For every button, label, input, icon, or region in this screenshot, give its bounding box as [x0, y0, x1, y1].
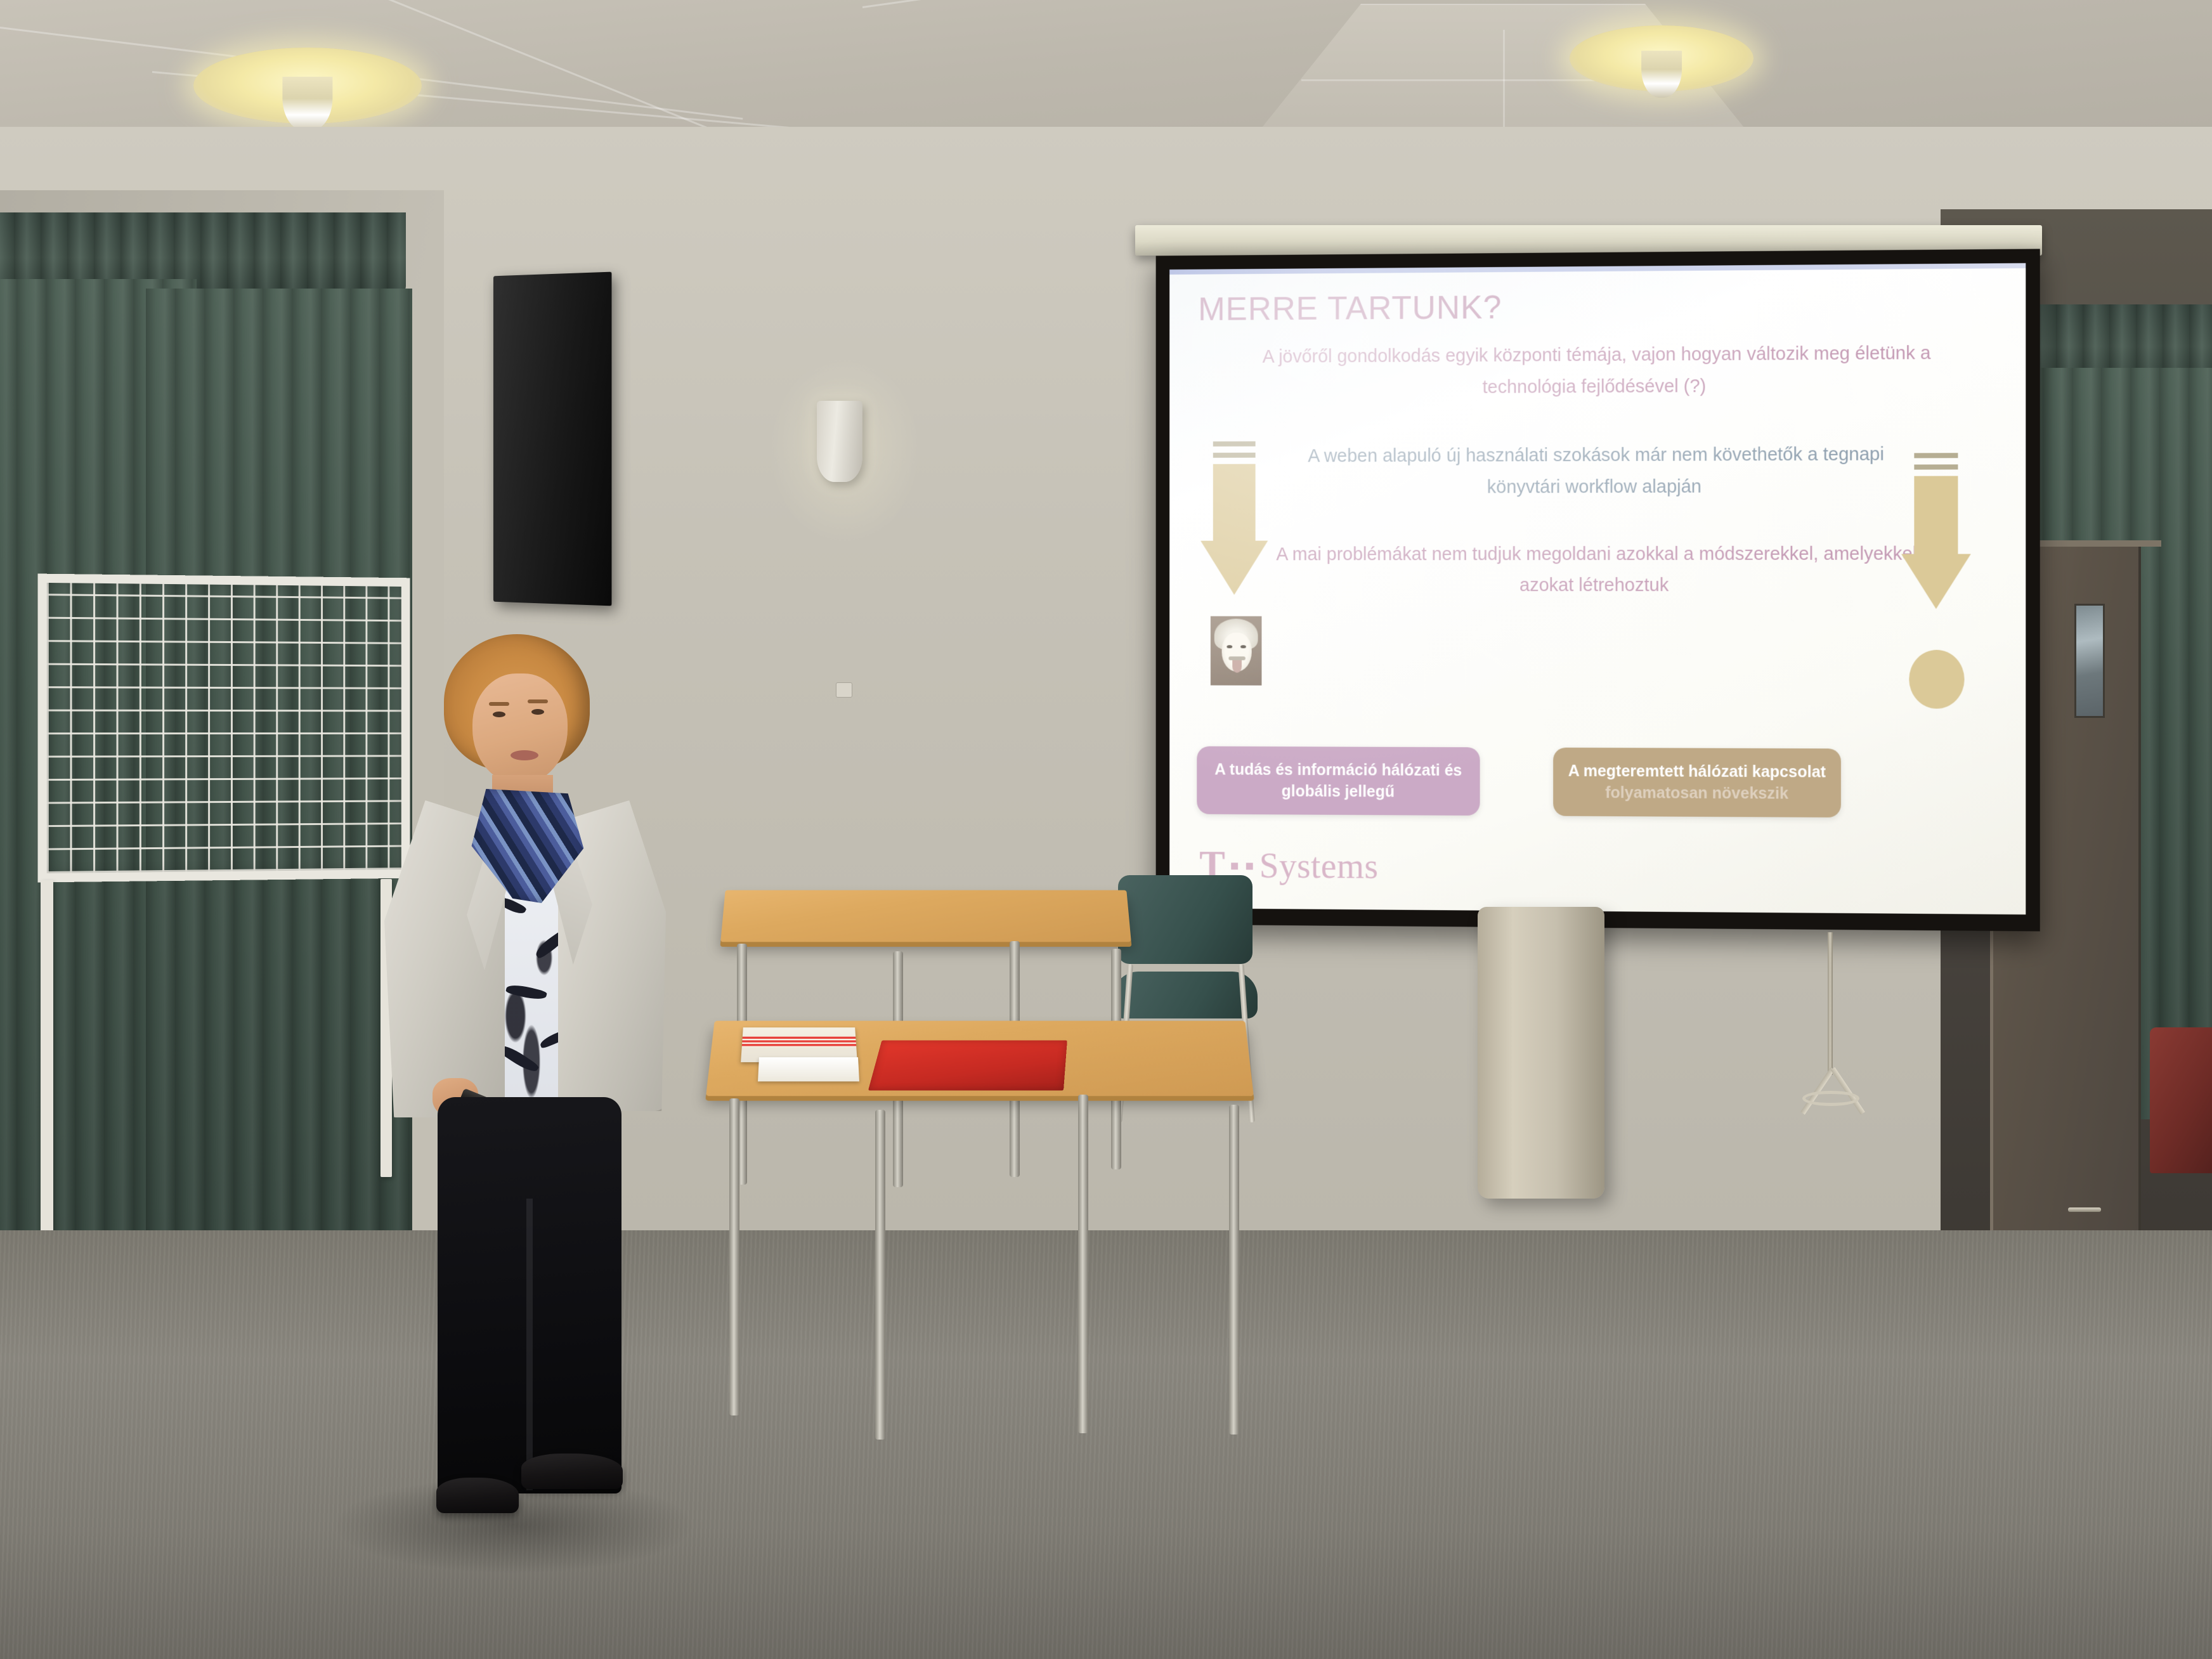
- slide-callout-row: A tudás és információ hálózati és globál…: [1197, 746, 1997, 819]
- red-armchair[interactable]: [2150, 1027, 2212, 1173]
- presenter-trousers: [438, 1097, 621, 1493]
- slide-title: MERRE TARTUNK?: [1198, 285, 1997, 329]
- slide-paragraph-1: A jövőről gondolkodás egyik központi tém…: [1223, 338, 1972, 405]
- presenter-eyebrow-left: [489, 702, 509, 706]
- ceiling-panel-seam: [1503, 30, 1505, 140]
- t-systems-logo-dots: [1229, 862, 1256, 869]
- presentation-slide: MERRE TARTUNK? A jövőről gondolkodás egy…: [1169, 263, 2026, 914]
- female-presenter: [342, 634, 672, 1585]
- red-placemat[interactable]: [868, 1040, 1067, 1090]
- stone-column: [1478, 907, 1604, 1199]
- door-handle[interactable]: [2068, 1207, 2101, 1212]
- presenter-eye-left: [493, 712, 505, 717]
- wall-sconce-lamp: [817, 401, 862, 482]
- wall-power-outlet[interactable]: [836, 682, 852, 698]
- projection-screen-frame: MERRE TARTUNK? A jövőről gondolkodás egy…: [1156, 249, 2040, 931]
- presenter-shoe-right: [521, 1454, 623, 1489]
- ceiling-downlight-left: [193, 48, 422, 124]
- slide-paragraph-3: A mai problémákat nem tudjuk megoldani a…: [1254, 538, 1939, 602]
- white-paper-pad[interactable]: [758, 1057, 859, 1081]
- presenter-mouth: [511, 750, 538, 760]
- t-systems-logo-word: Systems: [1259, 846, 1379, 887]
- presenter-shoe-left: [436, 1478, 519, 1513]
- ceiling-downlight-right-recessed: [1570, 25, 1753, 91]
- wall-speaker-box: [493, 272, 612, 606]
- down-arrow-icon-right: [1901, 449, 1971, 609]
- projector-screen-tripod: [1769, 932, 1896, 1122]
- projection-screen-surface: MERRE TARTUNK? A jövőről gondolkodás egy…: [1169, 263, 2026, 914]
- presenter-face: [472, 673, 568, 784]
- door-glass-panel: [2074, 604, 2105, 718]
- callout-right-bold: A megteremtett hálózati kapcsolat: [1568, 762, 1826, 781]
- presenter-eyebrow-right: [528, 699, 548, 703]
- callout-right: A megteremtett hálózati kapcsolat folyam…: [1553, 748, 1841, 817]
- conference-room-scene: MERRE TARTUNK? A jövőről gondolkodás egy…: [0, 0, 2212, 1659]
- callout-right-dim: folyamatosan növekszik: [1605, 784, 1788, 802]
- presenter-eye-right: [531, 709, 544, 715]
- down-arrow-icon-left: [1200, 438, 1268, 595]
- slide-paragraph-2: A weben alapuló új használati szokások m…: [1273, 439, 1920, 504]
- callout-left: A tudás és információ hálózati és globál…: [1197, 746, 1480, 816]
- gold-circle-shape: [1909, 650, 1964, 709]
- einstein-portrait: [1211, 616, 1262, 686]
